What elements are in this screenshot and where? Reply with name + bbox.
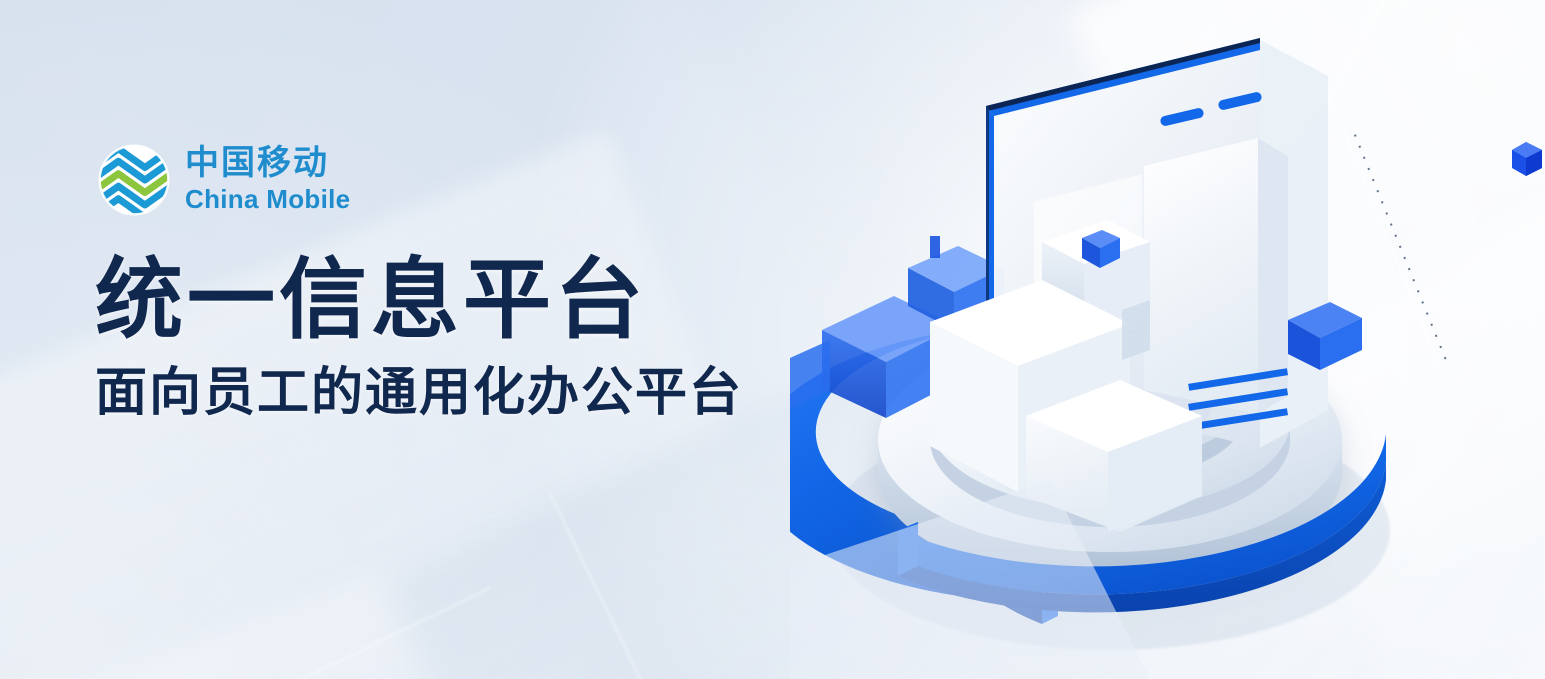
brand-lockup: 中国移动 China Mobile (95, 138, 815, 222)
china-mobile-logo-icon (95, 141, 173, 219)
page-title: 统一信息平台 (95, 252, 815, 347)
page-subtitle: 面向员工的通用化办公平台 (95, 365, 815, 422)
floating-mini-cube-icon (1512, 138, 1542, 178)
blue-nub (930, 236, 940, 258)
brand-name-cn: 中国移动 (185, 146, 350, 182)
china-mobile-hero-banner: 中国移动 China Mobile 统一信息平台 面向员工的通用化办公平台 (0, 0, 1545, 679)
brand-wordmark: 中国移动 China Mobile (185, 146, 350, 213)
hero-illustration (790, 10, 1430, 679)
brand-name-en: China Mobile (185, 185, 350, 214)
hero-text-block: 中国移动 China Mobile 统一信息平台 面向员工的通用化办公平台 (95, 138, 815, 422)
